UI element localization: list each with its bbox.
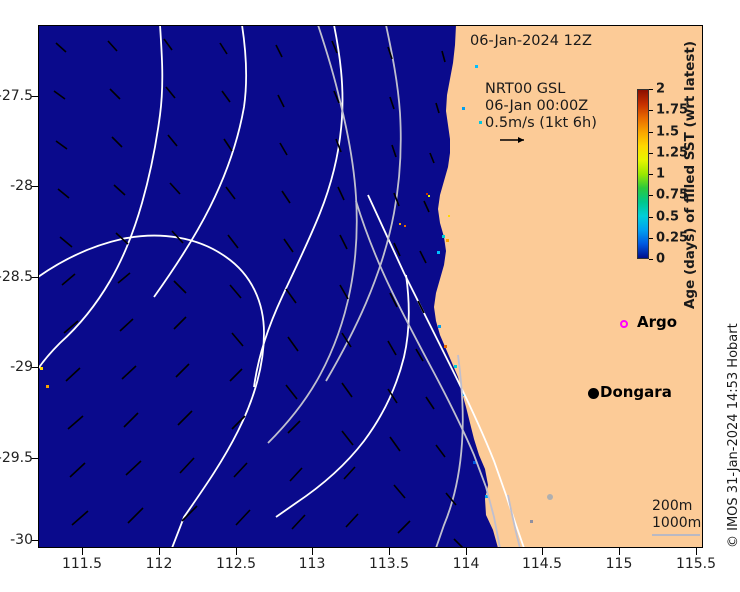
argo-marker-icon [620, 320, 628, 328]
dongara-marker-icon [588, 388, 599, 399]
colorbar-tick [649, 238, 653, 239]
map-plot-area[interactable]: 06-Jan-2024 12Z NRT00 GSL 06-Jan 00:00Z … [38, 25, 703, 548]
x-tick [389, 548, 390, 555]
map-marker-dot [547, 494, 553, 500]
depth-legend-200m: 200m [652, 498, 701, 515]
colorbar-tick [649, 132, 653, 133]
x-tick [236, 548, 237, 555]
x-tick [542, 548, 543, 555]
dongara-label: Dongara [600, 383, 672, 401]
x-tick [159, 548, 160, 555]
x-tick [696, 548, 697, 555]
x-tick-label: 112 [146, 556, 173, 572]
argo-label: Argo [637, 313, 677, 331]
plot-frame-top [38, 25, 703, 26]
colorbar-tick-label: 0 [656, 252, 665, 267]
colorbar-tick-label: 1.5 [656, 124, 679, 139]
plot-frame-left [38, 25, 39, 548]
colorbar-gradient [637, 89, 649, 259]
x-tick [312, 548, 313, 555]
colorbar-tick [649, 259, 653, 260]
copyright-label: © IMOS 31-Jan-2024 14:53 Hobart [726, 323, 740, 548]
coastline-pixels [40, 65, 488, 498]
plot-frame-right [702, 25, 703, 548]
y-tick-label: -29.5 [0, 450, 33, 466]
y-tick-label: -29 [10, 359, 33, 375]
plot-frame-bottom [38, 547, 703, 548]
colorbar-title: Age (days) of filled SST (wrt latest) [682, 41, 698, 309]
x-tick-label: 113 [299, 556, 326, 572]
colorbar-tick [649, 89, 653, 90]
x-tick-label: 115.5 [676, 556, 716, 572]
x-tick-label: 114 [453, 556, 480, 572]
depth-legend: 200m 1000m [652, 498, 701, 532]
source-time-label: 06-Jan 00:00Z [485, 98, 588, 114]
colorbar-tick [649, 153, 653, 154]
map-vector-layer [38, 25, 703, 548]
x-tick [466, 548, 467, 555]
x-tick-label: 114.5 [522, 556, 562, 572]
colorbar-tick [649, 174, 653, 175]
x-tick-label: 113.5 [369, 556, 409, 572]
depth-legend-1000m: 1000m [652, 515, 701, 532]
source-model-label: NRT00 GSL [485, 81, 565, 97]
colorbar-tick [649, 217, 653, 218]
colorbar-tick-label: 2 [656, 82, 665, 97]
y-tick-label: -28 [10, 178, 33, 194]
x-tick [82, 548, 83, 555]
timestamp-label: 06-Jan-2024 12Z [470, 33, 592, 49]
colorbar-tick-label: 0.5 [656, 209, 679, 224]
x-tick-label: 111.5 [62, 556, 102, 572]
x-tick-label: 115 [606, 556, 633, 572]
colorbar[interactable]: 2 1.75 1.5 1.25 1 0.75 0.5 0.25 0 [637, 89, 649, 259]
colorbar-tick [649, 195, 653, 196]
vector-scale-arrow-icon [500, 135, 530, 145]
y-tick-label: -27.5 [0, 88, 33, 104]
current-vector-field [54, 39, 465, 548]
colorbar-tick-label: 1 [656, 167, 665, 182]
colorbar-tick [649, 110, 653, 111]
x-tick [619, 548, 620, 555]
y-tick-label: -28.5 [0, 269, 33, 285]
vector-scale-label: 0.5m/s (1kt 6h) [485, 115, 597, 131]
depth-legend-rule [652, 534, 700, 536]
x-tick-label: 112.5 [216, 556, 256, 572]
y-tick-label: -30 [10, 532, 33, 548]
